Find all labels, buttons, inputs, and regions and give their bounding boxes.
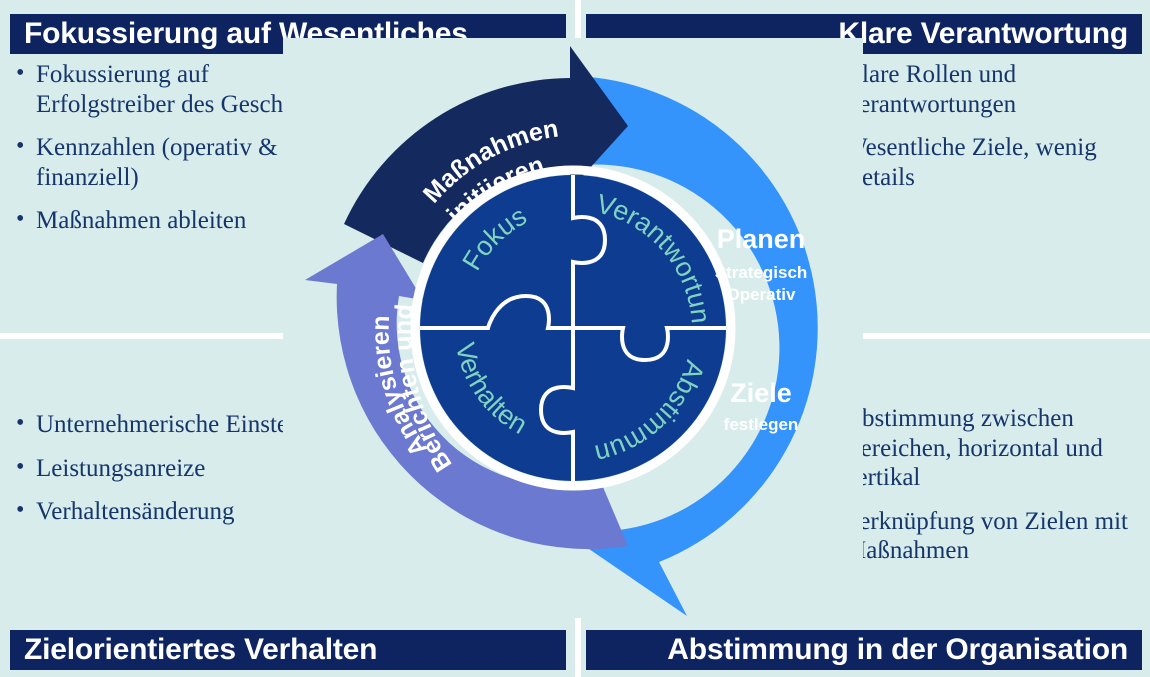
- side-label-planen-sub1: Strategisch: [715, 263, 808, 282]
- bullets-bottom-right: Abstimmung zwischen Bereichen, horizonta…: [822, 404, 1142, 580]
- banner-bottom-right: Abstimmung in der Organisation: [586, 630, 1142, 670]
- list-item: Klare Rollen und Verantwortungen: [822, 60, 1142, 119]
- side-label-planen-title: Planen: [717, 224, 806, 254]
- banner-bottom-left: Zielorientiertes Verhalten: [10, 630, 566, 670]
- list-item: Verknüpfung von Zielen mit Maßnahmen: [822, 507, 1142, 566]
- side-label-ziele-sub1: festlegen: [724, 415, 799, 434]
- bullets-top-right: Klare Rollen und Verantwortungen Wesentl…: [822, 60, 1142, 206]
- list-item: Abstimmung zwischen Bereichen, horizonta…: [822, 404, 1142, 493]
- side-label-planen-sub2: Operativ: [727, 285, 797, 304]
- cycle-diagram: Fokus Verantwortung Verhalten Abstimmung…: [283, 38, 863, 618]
- list-item: Wesentliche Ziele, wenig Details: [822, 133, 1142, 192]
- side-label-ziele-title: Ziele: [730, 378, 792, 408]
- diagram-root: Fokussierung auf Wesentliches Klare Vera…: [0, 0, 1150, 677]
